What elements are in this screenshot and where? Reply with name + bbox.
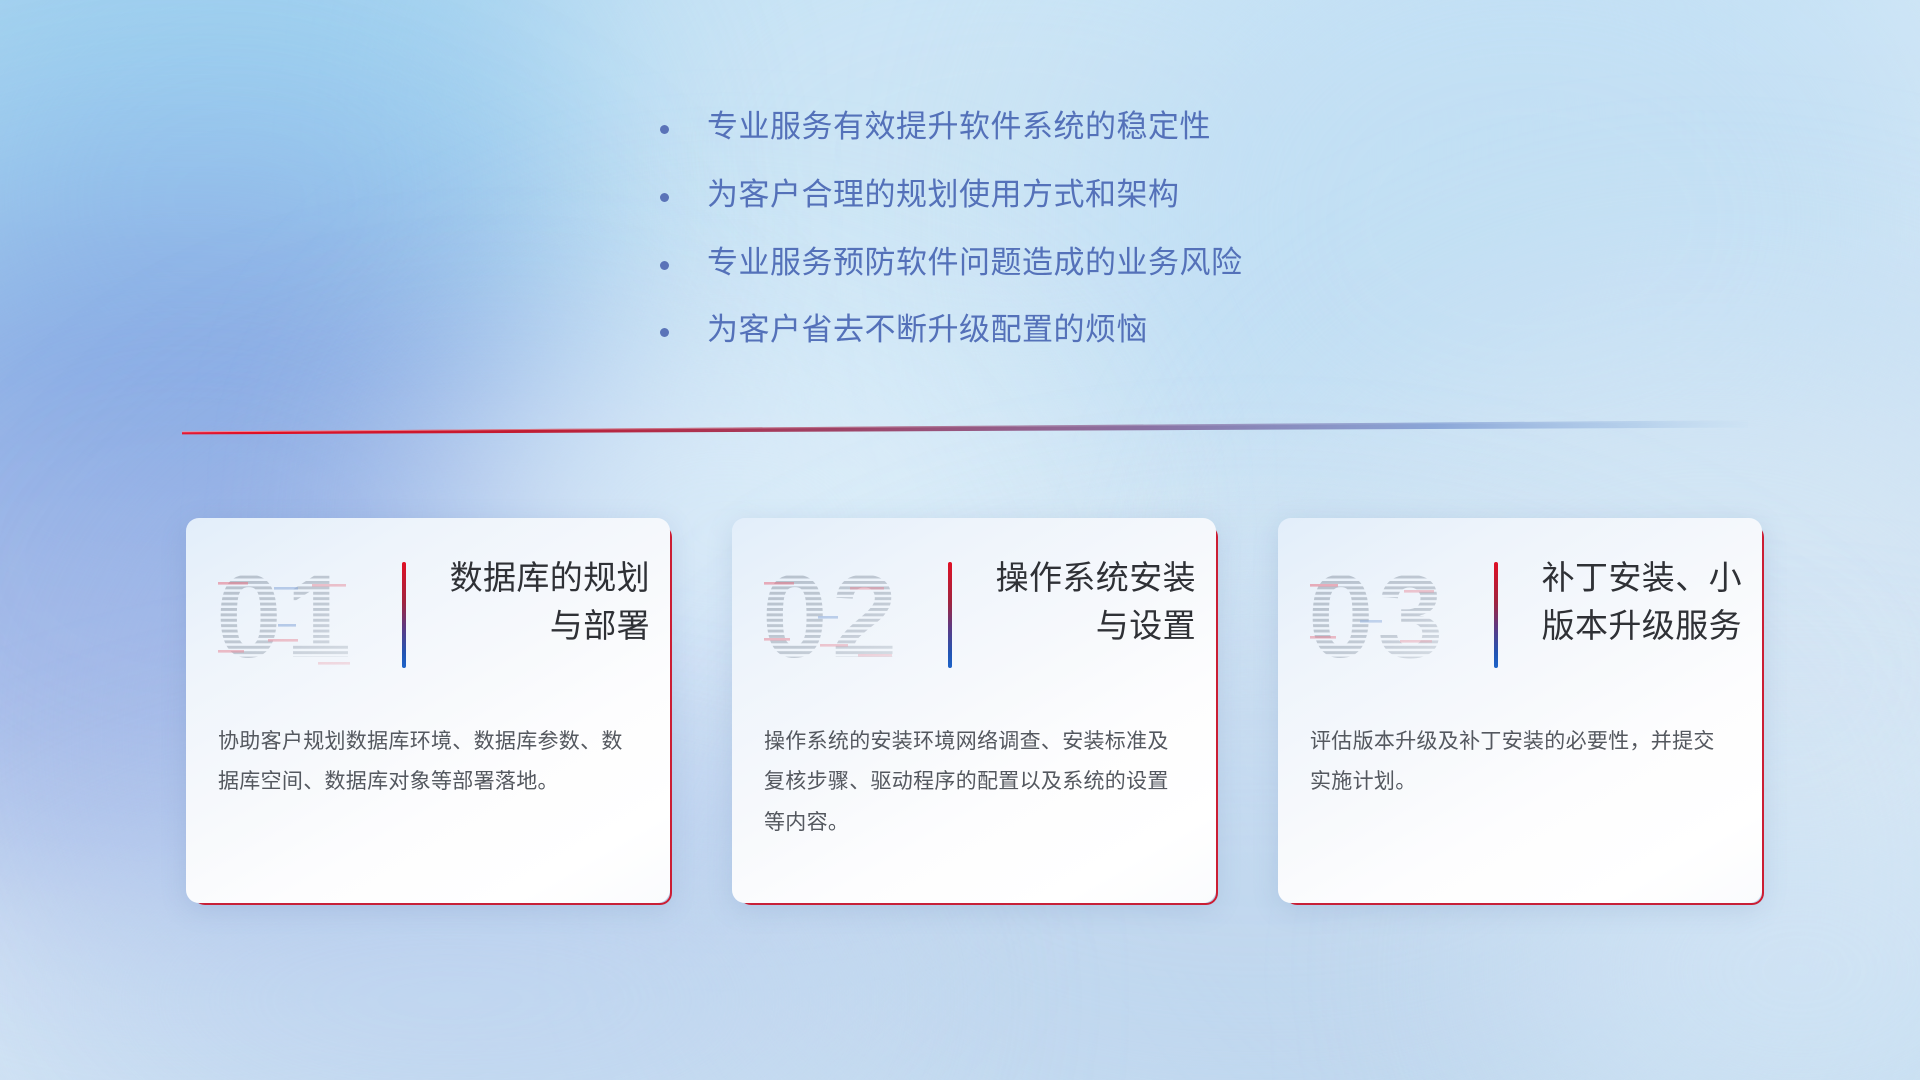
bullet-text: 为客户省去不断升级配置的烦恼 — [707, 311, 1148, 349]
list-item: 为客户省去不断升级配置的烦恼 — [660, 311, 1243, 349]
card-header: 02 操作系统安装与设置 — [732, 518, 1216, 714]
card-title: 数据库的规划与部署 — [430, 554, 650, 649]
service-card-group: 01 数据库的规划与部署 协助客户规划数据库环境、数据库参数、数 — [186, 518, 1762, 903]
svg-text:01: 01 — [216, 554, 355, 674]
bullet-dot-icon — [660, 193, 669, 202]
card-title: 操作系统安装与设置 — [970, 554, 1196, 649]
card-number-03-icon: 03 — [1308, 554, 1480, 674]
tapered-accent-divider — [182, 418, 1748, 440]
service-card[interactable]: 01 数据库的规划与部署 协助客户规划数据库环境、数据库参数、数 — [186, 518, 670, 903]
benefits-bullet-list: 专业服务有效提升软件系统的稳定性 为客户合理的规划使用方式和架构 专业服务预防软… — [660, 108, 1243, 349]
card-title-rule — [948, 562, 952, 668]
bullet-text: 专业服务有效提升软件系统的稳定性 — [707, 108, 1211, 146]
card-surface: 01 数据库的规划与部署 协助客户规划数据库环境、数据库参数、数 — [186, 518, 670, 903]
card-number-02-icon: 02 — [762, 554, 934, 674]
card-body-text: 协助客户规划数据库环境、数据库参数、数据库空间、数据库对象等部署落地。 — [218, 722, 638, 803]
bullet-dot-icon — [660, 125, 669, 134]
service-card[interactable]: 03 补丁安装、小版本升级服务 评估版本升级及补丁安装的必要性，并提交实施计划。 — [1278, 518, 1762, 903]
list-item: 专业服务预防软件问题造成的业务风险 — [660, 244, 1243, 282]
service-card[interactable]: 02 操作系统安装与设置 操作系统的安装环境网络调查、安装标准及复核步骤、驱动程… — [732, 518, 1216, 903]
bullet-dot-icon — [660, 328, 669, 337]
card-number-01-icon: 01 — [216, 554, 388, 674]
list-item: 专业服务有效提升软件系统的稳定性 — [660, 108, 1243, 146]
card-header: 03 补丁安装、小版本升级服务 — [1278, 518, 1762, 714]
card-title-rule — [402, 562, 406, 668]
card-surface: 03 补丁安装、小版本升级服务 评估版本升级及补丁安装的必要性，并提交实施计划。 — [1278, 518, 1762, 903]
bullet-text: 为客户合理的规划使用方式和架构 — [707, 176, 1180, 214]
card-title-rule — [1494, 562, 1498, 668]
svg-text:03: 03 — [1308, 554, 1447, 674]
list-item: 为客户合理的规划使用方式和架构 — [660, 176, 1243, 214]
card-body-text: 操作系统的安装环境网络调查、安装标准及复核步骤、驱动程序的配置以及系统的设置等内… — [764, 722, 1184, 843]
card-surface: 02 操作系统安装与设置 操作系统的安装环境网络调查、安装标准及复核步骤、驱动程… — [732, 518, 1216, 903]
card-body-text: 评估版本升级及补丁安装的必要性，并提交实施计划。 — [1310, 722, 1730, 803]
bullet-text: 专业服务预防软件问题造成的业务风险 — [707, 244, 1243, 282]
card-header: 01 数据库的规划与部署 — [186, 518, 670, 714]
card-title: 补丁安装、小版本升级服务 — [1514, 554, 1742, 649]
bullet-dot-icon — [660, 261, 669, 270]
